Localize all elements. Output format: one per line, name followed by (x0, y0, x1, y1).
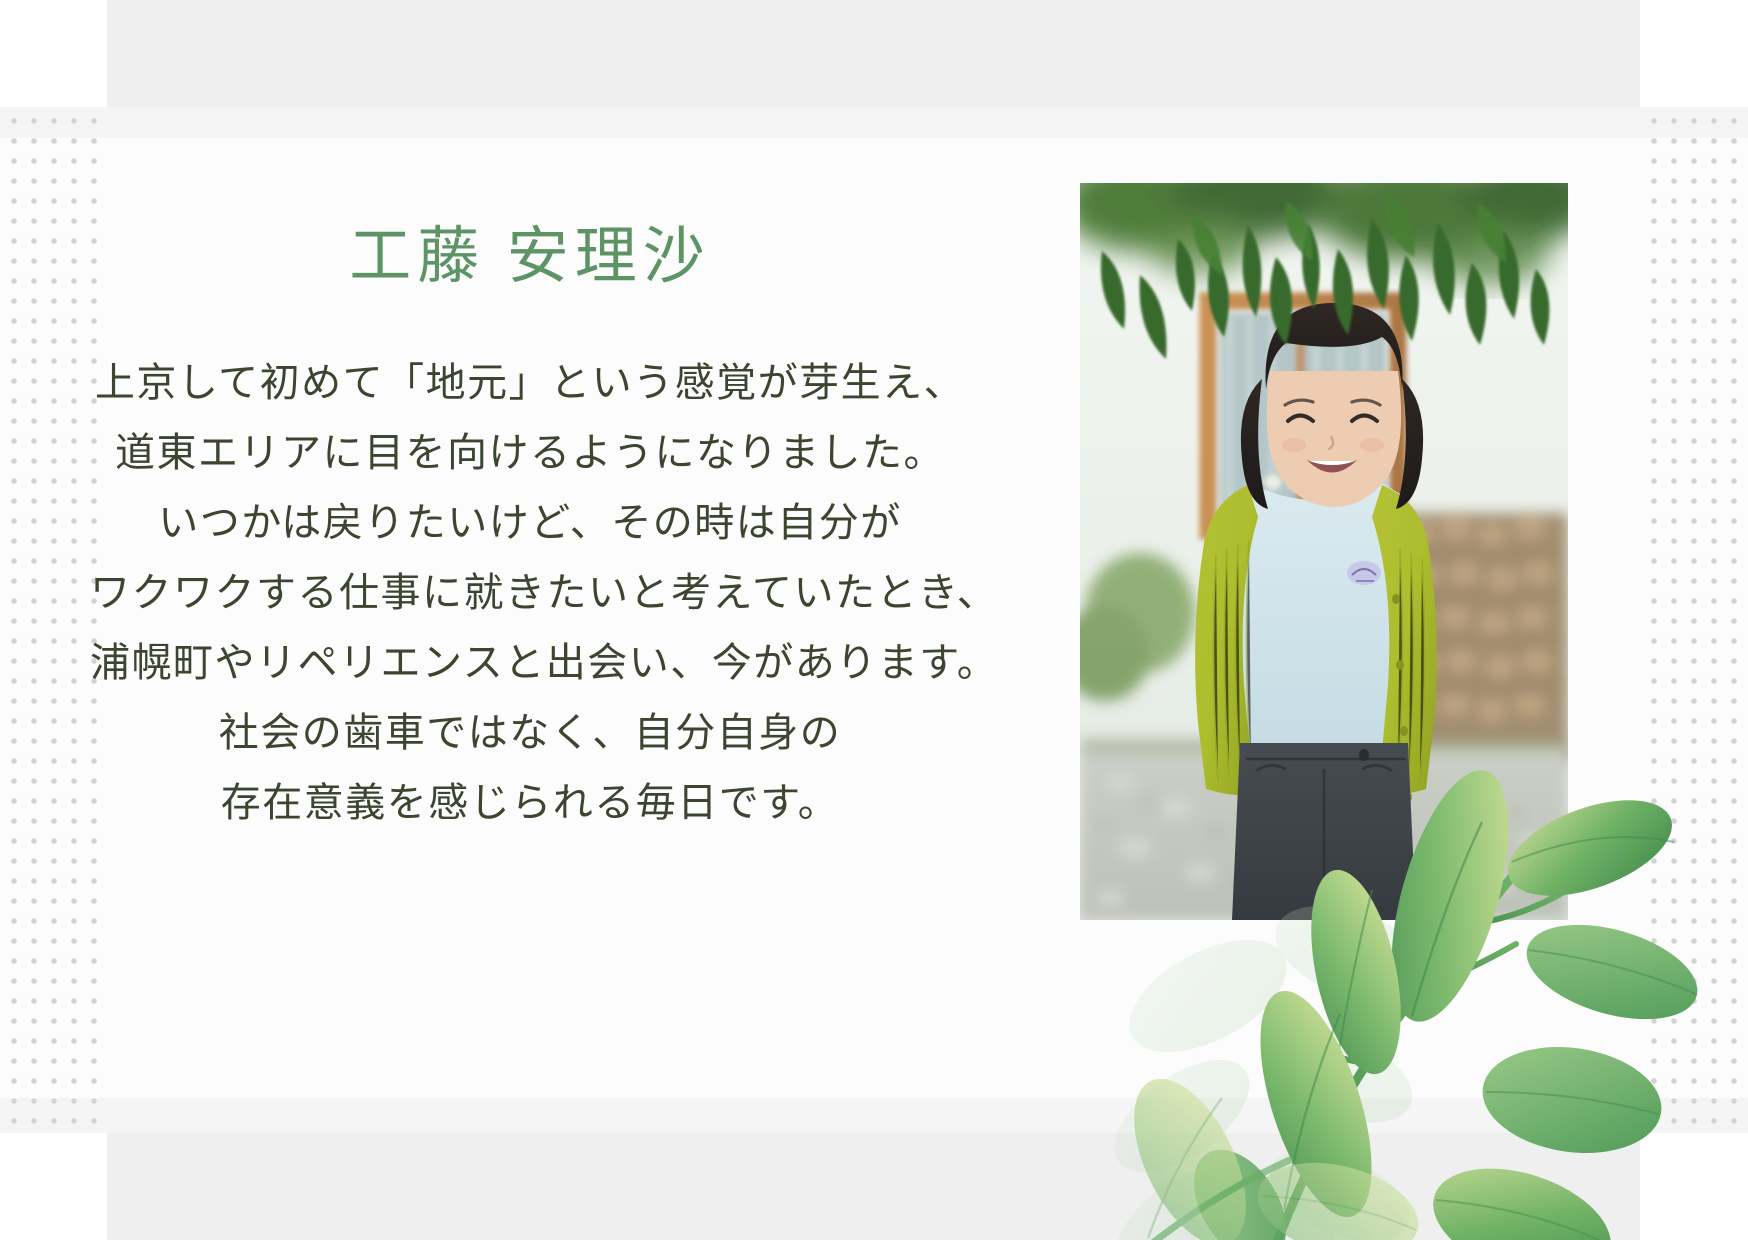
page-canvas: 工藤 安理沙 上京して初めて「地元」という感覚が芽生え、 道東エリアに目を向ける… (0, 0, 1748, 1240)
portrait-photo-icon (1080, 183, 1568, 920)
dot-grid-pattern-right (1640, 107, 1748, 1133)
profile-photo (1080, 183, 1568, 920)
profile-text-column: 工藤 安理沙 上京して初めて「地元」という感覚が芽生え、 道東エリアに目を向ける… (90, 180, 970, 838)
panel-top-edge-strip (0, 107, 1748, 138)
profile-quote: 上京して初めて「地元」という感覚が芽生え、 道東エリアに目を向けるようになりまし… (90, 288, 970, 838)
quote-line: 道東エリアに目を向けるようになりました。 (90, 418, 970, 488)
quote-line: ワクワクする仕事に就きたいと考えていたとき、 (90, 558, 970, 628)
quote-line: 浦幌町やリペリエンスと出会い、今があります。 (90, 628, 970, 698)
page-title: 工藤 安理沙 (90, 180, 970, 288)
quote-line: 存在意義を感じられる毎日です。 (90, 768, 970, 838)
panel-bottom-edge-strip (0, 1098, 1748, 1133)
quote-line: 上京して初めて「地元」という感覚が芽生え、 (90, 348, 970, 418)
quote-line: 社会の歯車ではなく、自分自身の (90, 698, 970, 768)
quote-line: いつかは戻りたいけど、その時は自分が (90, 488, 970, 558)
